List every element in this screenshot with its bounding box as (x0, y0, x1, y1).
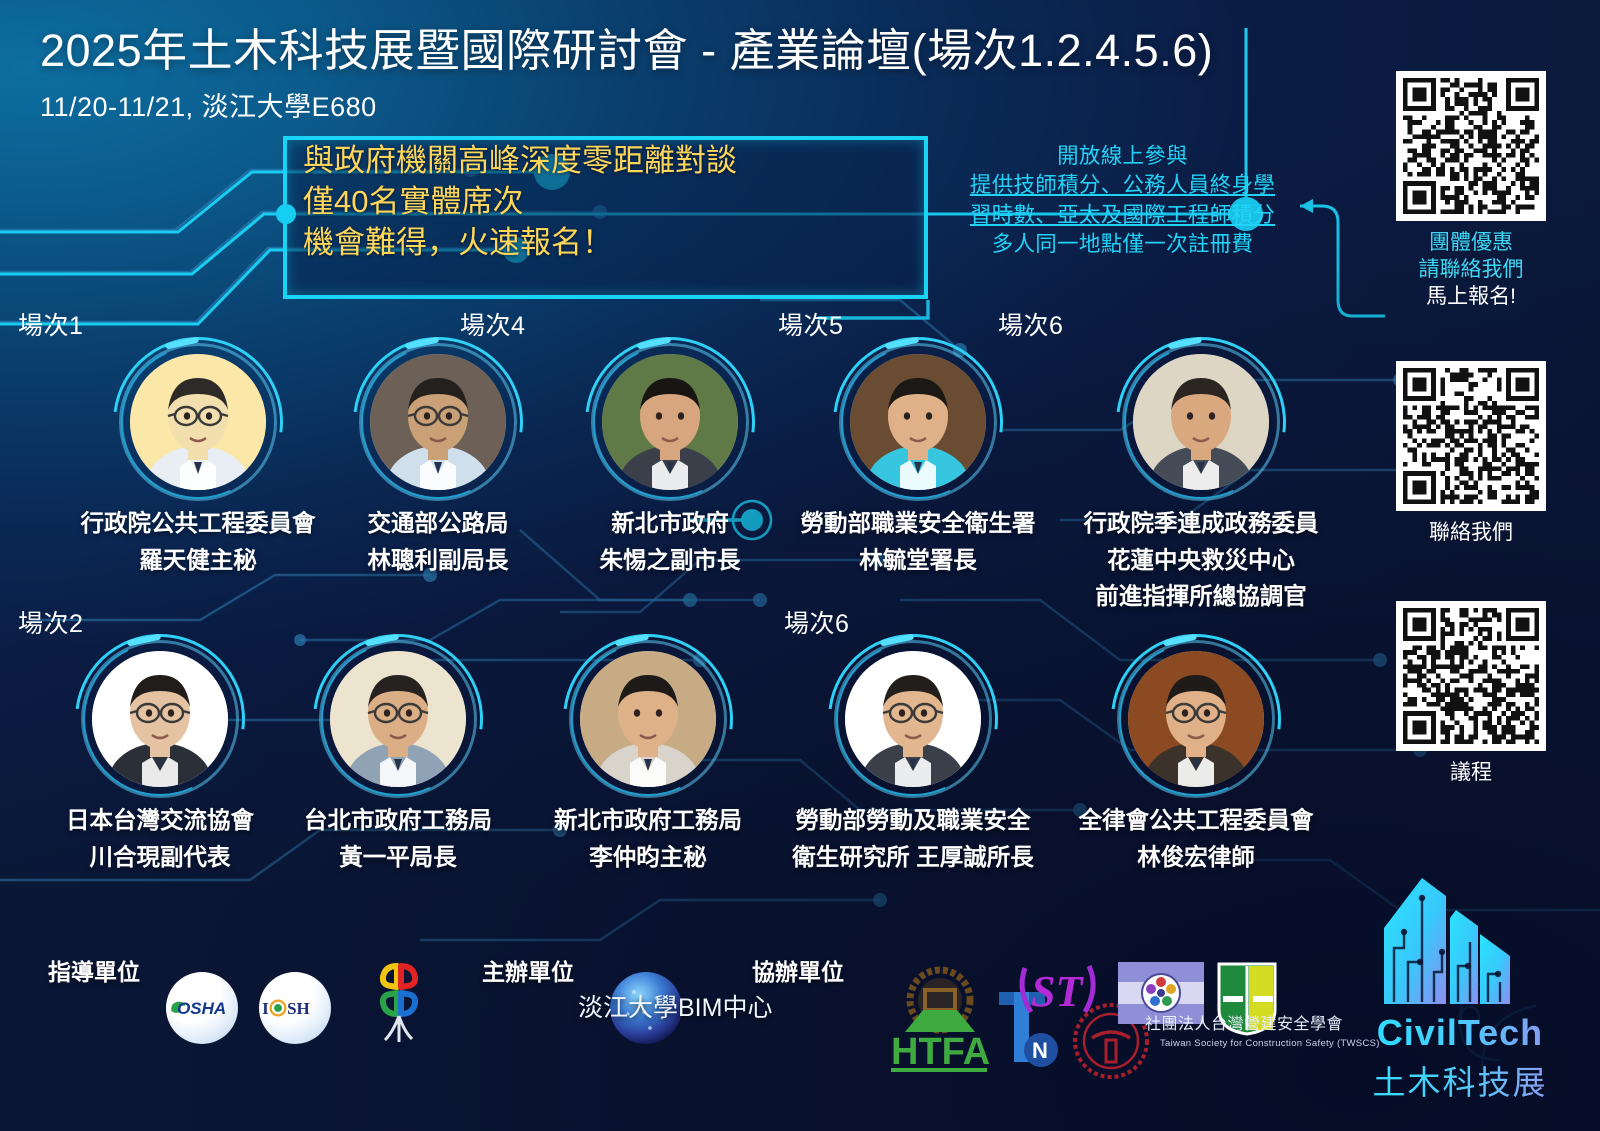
avatar (591, 343, 749, 501)
speaker-card: 勞動部職業安全衛生署林毓堂署長 (778, 343, 1058, 574)
portrait-illustration (845, 651, 981, 787)
portrait-illustration (130, 354, 266, 490)
brand-name-zh: 土木科技展 (1340, 1056, 1580, 1104)
twscs-name: 社團法人台灣營建安全學會 (1145, 1010, 1343, 1034)
highlight-callout-box: 與政府機關高峰深度零距離對談 僅40名實體席次 機會難得，火速報名！ (283, 136, 928, 299)
svg-text:OSHA: OSHA (177, 999, 226, 1018)
speaker-name-line: 勞動部勞動及職業安全 (768, 807, 1058, 835)
avatar-photo (1133, 354, 1269, 490)
session-tag-5: 場次5 (778, 306, 843, 342)
highlight-line-2: 僅40名實體席次 (287, 181, 924, 222)
qr-caption-line-1: 團體優惠 (1396, 230, 1546, 257)
avatar-photo (130, 354, 266, 490)
agenda-qr-icon[interactable] (1396, 601, 1546, 751)
speaker-card: 台北市政府工務局黃一平局長 (258, 640, 538, 871)
speaker-name-line: 林毓堂署長 (778, 547, 1058, 575)
highlight-line-3: 機會難得，火速報名！ (287, 222, 924, 263)
portrait-illustration (330, 651, 466, 787)
qr-caption-contact: 聯絡我們 (1396, 520, 1546, 547)
speaker-card: 勞動部勞動及職業安全衛生研究所 王厚誠所長 (768, 640, 1058, 871)
portrait-illustration (370, 354, 506, 490)
contact-qr-caption: 聯絡我們 (1396, 520, 1546, 547)
avatar-photo (92, 651, 228, 787)
speaker-name-line: 衛生研究所 王厚誠所長 (768, 844, 1058, 872)
avatar (119, 343, 277, 501)
speaker-name-line: 李仲昀主秘 (508, 844, 788, 872)
session-tag-4: 場次4 (460, 306, 525, 342)
speaker-name-line: 黃一平局長 (258, 844, 538, 872)
svg-text:I: I (262, 999, 269, 1018)
portrait-illustration (850, 354, 986, 490)
host-unit-label: 主辦單位 (482, 953, 574, 987)
avatar-photo (1128, 651, 1264, 787)
page-title: 2025年土木科技展暨國際研討會 - 產業論壇(場次1.2.4.5.6) (40, 14, 1213, 79)
portrait-illustration (92, 651, 228, 787)
speaker-name-line: 朱惕之副市長 (530, 547, 810, 575)
speaker-card: 新北市政府工務局李仲昀主秘 (508, 640, 788, 871)
avatar-photo (370, 354, 506, 490)
avatar-photo (602, 354, 738, 490)
session-tag-6a: 場次6 (998, 306, 1063, 342)
speaker-name-line: 台北市政府工務局 (258, 807, 538, 835)
speaker-name-line: 行政院公共工程委員會 (58, 510, 338, 538)
osha-logo: OSHA (166, 972, 238, 1044)
group-discount-qr-block[interactable]: 團體優惠 請聯絡我們 馬上報名! (1396, 71, 1546, 311)
speaker-name-line: 羅天健主秘 (58, 547, 338, 575)
contact-qr-block[interactable]: 聯絡我們 (1396, 361, 1546, 547)
portrait-illustration (1128, 651, 1264, 787)
flower-logo-icon (366, 960, 432, 1052)
page-subtitle: 11/20-11/21, 淡江大學E680 (40, 85, 1213, 124)
speaker-name-line: 花蓮中央救災中心 (1060, 547, 1342, 575)
agenda-qr-caption: 議程 (1396, 760, 1546, 787)
speaker-name-line: 全律會公共工程委員會 (1056, 807, 1336, 835)
qr-caption-line-2: 請聯絡我們 (1396, 257, 1546, 284)
online-info-line-4: 多人同一地點僅一次註冊費 (925, 230, 1320, 259)
portrait-illustration (602, 354, 738, 490)
twscs-subname: Taiwan Society for Construction Safety (… (1160, 1038, 1380, 1049)
avatar (834, 640, 992, 798)
qr-caption-line-3: 馬上報名! (1396, 284, 1546, 311)
qr-caption-agenda: 議程 (1396, 760, 1546, 787)
online-info-line-2: 提供技師積分、公務人員終身學 (925, 171, 1320, 200)
speaker-card: 行政院季連成政務委員花蓮中央救災中心前進指揮所總協調官 (1060, 343, 1342, 611)
avatar-photo (850, 354, 986, 490)
speaker-name-line: 林俊宏律師 (1056, 844, 1336, 872)
svg-text:HTFA: HTFA (891, 1031, 990, 1073)
avatar (319, 640, 477, 798)
contact-qr-icon[interactable] (1396, 361, 1546, 511)
htfa-logo-icon: HTFA (885, 960, 995, 1075)
session-tag-6b: 場次6 (784, 604, 849, 640)
highlight-line-1: 與政府機關高峰深度零距離對談 (287, 140, 924, 181)
portrait-illustration (580, 651, 716, 787)
avatar-photo (845, 651, 981, 787)
agenda-qr-block[interactable]: 議程 (1396, 601, 1546, 787)
avatar (81, 640, 239, 798)
svg-text:SH: SH (287, 999, 310, 1018)
speaker-card: 新北市政府朱惕之副市長 (530, 343, 810, 574)
avatar (1117, 640, 1275, 798)
group-discount-qr-caption: 團體優惠 請聯絡我們 馬上報名! (1396, 230, 1546, 311)
avatar-photo (330, 651, 466, 787)
header: 2025年土木科技展暨國際研討會 - 產業論壇(場次1.2.4.5.6) 11/… (40, 14, 1213, 124)
coorganizer-unit-label: 協辦單位 (752, 953, 844, 987)
host-organization-name: 淡江大學BIM中心 (578, 988, 772, 1024)
htfa-logo: HTFA (885, 960, 995, 1075)
connector-dot-icon (276, 204, 296, 224)
speaker-name-line: 勞動部職業安全衛生署 (778, 510, 1058, 538)
avatar (569, 640, 727, 798)
session-tag-2: 場次2 (18, 604, 83, 640)
speaker-name-line: 新北市政府 (530, 510, 810, 538)
poster-canvas: 2025年土木科技展暨國際研討會 - 產業論壇(場次1.2.4.5.6) 11/… (0, 0, 1600, 1131)
speaker-name-line: 新北市政府工務局 (508, 807, 788, 835)
portrait-illustration (1133, 354, 1269, 490)
session-tag-1: 場次1 (18, 306, 83, 342)
civiltech-brand-logo: CivilTech 土木科技展 (1340, 862, 1580, 1104)
speaker-name-line: 行政院季連成政務委員 (1060, 510, 1342, 538)
civiltech-building-icon (1360, 862, 1560, 1012)
group-discount-qr-icon[interactable] (1396, 71, 1546, 221)
online-info-line-3: 習時數、亞太及國際工程師積分 (925, 201, 1320, 230)
speaker-card: 行政院公共工程委員會羅天健主秘 (58, 343, 338, 574)
avatar (359, 343, 517, 501)
speaker-card: 全律會公共工程委員會林俊宏律師 (1056, 640, 1336, 871)
online-participation-info: 開放線上參與 提供技師積分、公務人員終身學 習時數、亞太及國際工程師積分 多人同… (925, 142, 1320, 260)
guidance-unit-label: 指導單位 (48, 953, 140, 987)
osha-logo-icon: OSHA (168, 991, 236, 1025)
avatar (839, 343, 997, 501)
speaker-name-line: 前進指揮所總協調官 (1060, 583, 1342, 611)
svg-text:N: N (1032, 1038, 1048, 1063)
avatar-photo (580, 651, 716, 787)
iosh-logo: I SH (259, 972, 331, 1044)
avatar (1122, 343, 1280, 501)
iosh-logo-icon: I SH (261, 993, 329, 1023)
flower-logo (366, 960, 432, 1052)
online-info-line-1: 開放線上參與 (925, 142, 1320, 171)
